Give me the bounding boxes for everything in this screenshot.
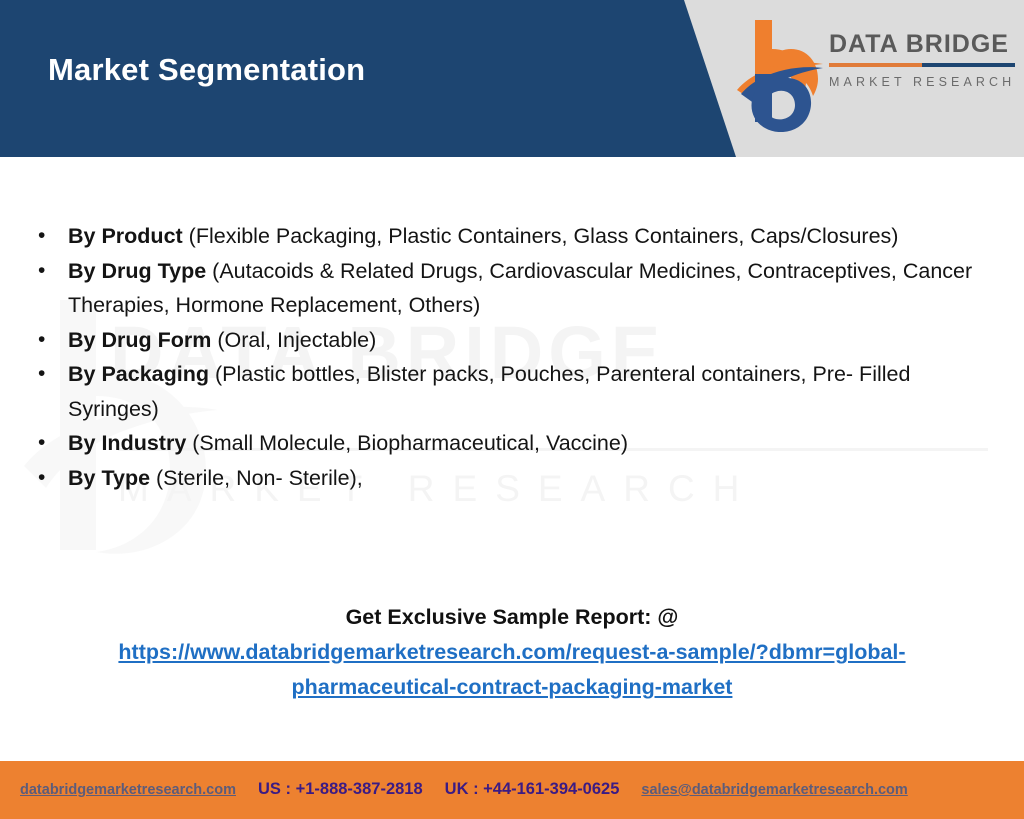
segment-label: By Drug Form: [68, 328, 211, 352]
brand-logo: DATA BRIDGE MARKET RESEARCH: [735, 14, 1015, 134]
brand-divider: [829, 63, 1015, 67]
brand-name: DATA BRIDGE: [829, 32, 1015, 57]
segment-detail: (Flexible Packaging, Plastic Containers,…: [183, 224, 899, 248]
list-item: By Product (Flexible Packaging, Plastic …: [30, 219, 990, 254]
list-item: By Drug Type (Autacoids & Related Drugs,…: [30, 254, 990, 323]
footer-email-link[interactable]: sales@databridgemarketresearch.com: [641, 782, 907, 798]
footer-uk-phone: UK : +44-161-394-0625: [445, 780, 620, 799]
call-to-action: Get Exclusive Sample Report: @ https://w…: [0, 600, 1024, 705]
slide: Market Segmentation DATA BRIDGE: [0, 0, 1024, 819]
sample-report-link[interactable]: https://www.databridgemarketresearch.com…: [117, 635, 907, 705]
segment-label: By Type: [68, 466, 150, 490]
segment-label: By Drug Type: [68, 259, 206, 283]
list-item: By Packaging (Plastic bottles, Blister p…: [30, 357, 990, 426]
cta-title: Get Exclusive Sample Report: @: [0, 600, 1024, 635]
page-title: Market Segmentation: [48, 52, 365, 88]
footer-us-phone: US : +1-888-387-2818: [258, 780, 423, 799]
segment-label: By Packaging: [68, 362, 209, 386]
segment-detail: (Oral, Injectable): [211, 328, 376, 352]
data-bridge-b-logo-icon: [735, 14, 825, 132]
footer-contents: databridgemarketresearch.com US : +1-888…: [20, 780, 1020, 799]
segment-label: By Industry: [68, 431, 186, 455]
footer-website-link[interactable]: databridgemarketresearch.com: [20, 782, 236, 798]
footer-bar: databridgemarketresearch.com US : +1-888…: [0, 761, 1024, 819]
list-item: By Industry (Small Molecule, Biopharmace…: [30, 426, 990, 461]
slide-content: By Product (Flexible Packaging, Plastic …: [0, 157, 1024, 752]
segmentation-list: By Product (Flexible Packaging, Plastic …: [30, 219, 990, 495]
segment-detail: (Sterile, Non- Sterile),: [150, 466, 363, 490]
list-item: By Drug Form (Oral, Injectable): [30, 323, 990, 358]
list-item: By Type (Sterile, Non- Sterile),: [30, 461, 990, 496]
header-banner: Market Segmentation DATA BRIDGE: [0, 0, 1024, 157]
brand-tagline: MARKET RESEARCH: [829, 75, 1015, 89]
segment-label: By Product: [68, 224, 183, 248]
segment-detail: (Small Molecule, Biopharmaceutical, Vacc…: [186, 431, 628, 455]
brand-logo-text: DATA BRIDGE MARKET RESEARCH: [829, 32, 1015, 89]
